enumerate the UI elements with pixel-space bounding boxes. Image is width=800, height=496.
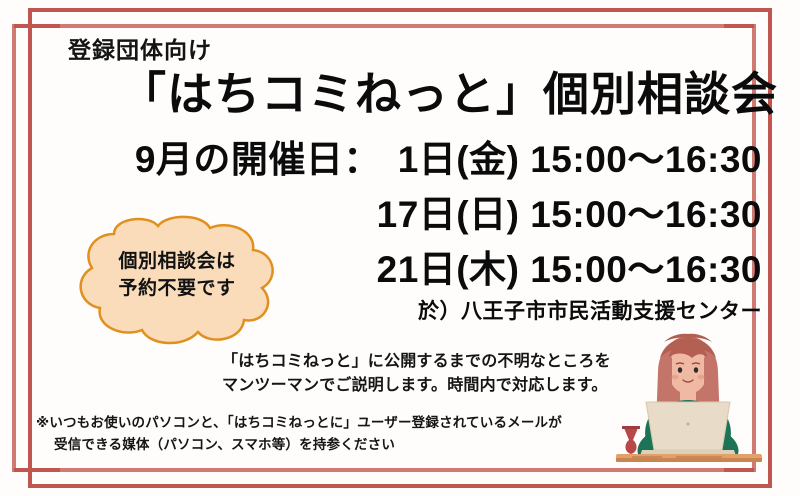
description-line-1: 「はちコミねっと」に公開するまでの不明なところを [222, 350, 611, 374]
woman-at-laptop-illustration [598, 328, 778, 478]
schedule-time: 15:00〜16:30 [530, 249, 762, 290]
schedule-date: 21日(木) [377, 249, 520, 290]
schedule-label: 9月の開催日： [135, 139, 381, 180]
schedule-time: 15:00〜16:30 [530, 194, 762, 235]
desk-shape [616, 454, 762, 462]
footnote-line-2: 受信できる媒体（パソコン、スマホ等）を持参ください [36, 434, 562, 456]
poster-canvas: 登録団体向け 「はちコミねっと」個別相談会 9月の開催日： 1日(金) 15:0… [0, 0, 800, 496]
vase-icon [622, 426, 640, 454]
schedule-date: 17日(日) [377, 194, 520, 235]
description-line-2: マンツーマンでご説明します。時間内で対応します。 [222, 374, 611, 398]
schedule-date: 1日(金) [398, 139, 520, 180]
footnote-line-1: ※いつもお使いのパソコンと、「はちコミねっとに」ユーザー登録されているメールが [36, 412, 562, 434]
no-reservation-callout: 個別相談会は 予約不要です [52, 212, 302, 352]
laptop-icon [640, 402, 736, 456]
schedule-row: 9月の開催日： 1日(金) 15:00〜16:30 [0, 132, 762, 187]
description-text: 「はちコミねっと」に公開するまでの不明なところを マンツーマンでご説明します。時… [222, 350, 611, 398]
callout-text: 個別相談会は 予約不要です [52, 248, 302, 302]
page-title: 「はちコミねっと」個別相談会 [120, 58, 778, 124]
footnote-text: ※いつもお使いのパソコンと、「はちコミねっとに」ユーザー登録されているメールが … [36, 412, 562, 456]
schedule-time: 15:00〜16:30 [530, 139, 762, 180]
callout-line-1: 個別相談会は [52, 248, 302, 275]
callout-line-2: 予約不要です [52, 275, 302, 302]
